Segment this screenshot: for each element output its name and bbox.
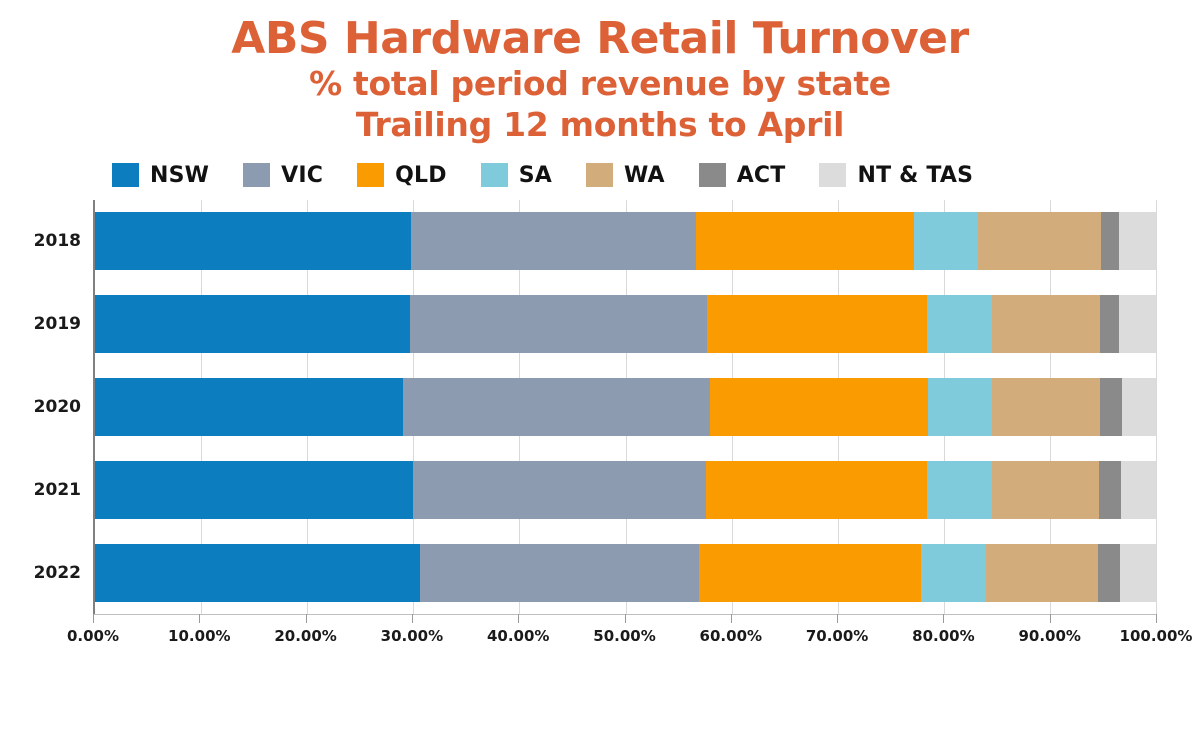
bar-segment-sa[interactable] [914,212,978,270]
legend-label: VIC [281,163,323,188]
plot-area: 20182019202020212022 [93,200,1156,614]
bar-segment-sa[interactable] [927,461,992,519]
bar-segment-sa[interactable] [927,295,992,353]
bar-row: 2021 [95,461,1156,519]
chart-legend: NSWVICQLDSAWAACTNT & TAS [0,158,1200,192]
axis-tick [1156,614,1157,623]
x-axis-tick-label: 80.00% [912,627,974,645]
legend-label: WA [624,163,665,188]
bar-segment-act[interactable] [1100,378,1122,436]
bar-segment-qld[interactable] [699,544,922,602]
legend-swatch-icon [481,163,508,187]
bar-segment-sa[interactable] [921,544,986,602]
bar-row: 2020 [95,378,1156,436]
y-axis-tick-label: 2018 [34,231,81,251]
bar-segment-wa[interactable] [978,212,1101,270]
bar-segment-nt-tas[interactable] [1120,544,1156,602]
axis-tick [625,614,626,623]
legend-swatch-icon [112,163,139,187]
axis-tick [199,614,200,623]
stacked-bars: 20182019202020212022 [95,200,1156,614]
legend-swatch-icon [243,163,270,187]
legend-label: SA [519,163,552,188]
axis-tick [731,614,732,623]
bar-segment-wa[interactable] [992,295,1100,353]
x-axis-tick-label: 20.00% [274,627,336,645]
chart-subtitle-line-1: % total period revenue by state [0,66,1200,103]
y-axis-tick-label: 2020 [34,397,81,417]
x-axis-tick-label: 50.00% [593,627,655,645]
axis-tick [943,614,944,623]
axis-tick [837,614,838,623]
legend-item-vic[interactable]: VIC [243,163,323,188]
chart-plot-wrapper: 20182019202020212022 0.00%10.00%20.00%30… [0,200,1200,640]
x-axis-tick-label: 30.00% [381,627,443,645]
x-axis-tick-label: 40.00% [487,627,549,645]
bar-segment-vic[interactable] [411,212,695,270]
legend-label: ACT [737,163,786,188]
bar-segment-act[interactable] [1099,461,1121,519]
bar-segment-wa[interactable] [992,378,1100,436]
bar-segment-act[interactable] [1101,212,1119,270]
bar-segment-vic[interactable] [420,544,699,602]
legend-item-sa[interactable]: SA [481,163,552,188]
legend-label: QLD [395,163,447,188]
bar-segment-wa[interactable] [986,544,1097,602]
bar-segment-qld[interactable] [706,461,928,519]
bar-segment-nsw[interactable] [95,544,420,602]
legend-item-nsw[interactable]: NSW [112,163,209,188]
legend-label: NSW [150,163,209,188]
x-axis-tick-label: 10.00% [168,627,230,645]
legend-item-wa[interactable]: WA [586,163,665,188]
bar-segment-vic[interactable] [403,378,709,436]
x-axis-tick-label: 70.00% [806,627,868,645]
axis-tick [306,614,307,623]
legend-item-qld[interactable]: QLD [357,163,447,188]
bar-segment-nt-tas[interactable] [1119,295,1156,353]
bar-row: 2022 [95,544,1156,602]
bar-segment-vic[interactable] [410,295,707,353]
x-axis-tick-label: 60.00% [700,627,762,645]
bar-segment-nsw[interactable] [95,295,410,353]
x-axis-tick-label: 0.00% [67,627,119,645]
legend-item-act[interactable]: ACT [699,163,786,188]
bar-segment-nt-tas[interactable] [1119,212,1156,270]
x-axis-tick-label: 100.00% [1120,627,1193,645]
axis-tick [412,614,413,623]
y-axis-tick-label: 2019 [34,314,81,334]
bar-segment-sa[interactable] [928,378,992,436]
bar-segment-wa[interactable] [992,461,1099,519]
x-axis-ticks: 0.00%10.00%20.00%30.00%40.00%50.00%60.00… [93,614,1156,644]
bar-segment-qld[interactable] [707,295,927,353]
legend-item-nt-tas[interactable]: NT & TAS [819,163,973,188]
y-axis-tick-label: 2022 [34,563,81,583]
legend-swatch-icon [357,163,384,187]
bar-segment-qld[interactable] [696,212,915,270]
gridline [1156,200,1157,614]
page-title: ABS Hardware Retail Turnover [0,16,1200,62]
x-axis-tick-label: 90.00% [1018,627,1080,645]
legend-swatch-icon [586,163,613,187]
bar-segment-qld[interactable] [710,378,928,436]
bar-segment-nsw[interactable] [95,378,403,436]
chart-header: ABS Hardware Retail Turnover % total per… [0,0,1200,144]
bar-segment-act[interactable] [1100,295,1119,353]
bar-segment-nt-tas[interactable] [1122,378,1156,436]
legend-swatch-icon [819,163,846,187]
bar-row: 2018 [95,212,1156,270]
bar-segment-act[interactable] [1098,544,1120,602]
legend-swatch-icon [699,163,726,187]
axis-tick [1050,614,1051,623]
chart-subtitle-line-2: Trailing 12 months to April [0,107,1200,144]
axis-tick [518,614,519,623]
bar-segment-vic[interactable] [413,461,706,519]
axis-tick [93,614,94,623]
bar-segment-nsw[interactable] [95,461,413,519]
y-axis-tick-label: 2021 [34,480,81,500]
legend-label: NT & TAS [857,163,973,188]
bar-segment-nsw[interactable] [95,212,411,270]
bar-row: 2019 [95,295,1156,353]
bar-segment-nt-tas[interactable] [1121,461,1156,519]
